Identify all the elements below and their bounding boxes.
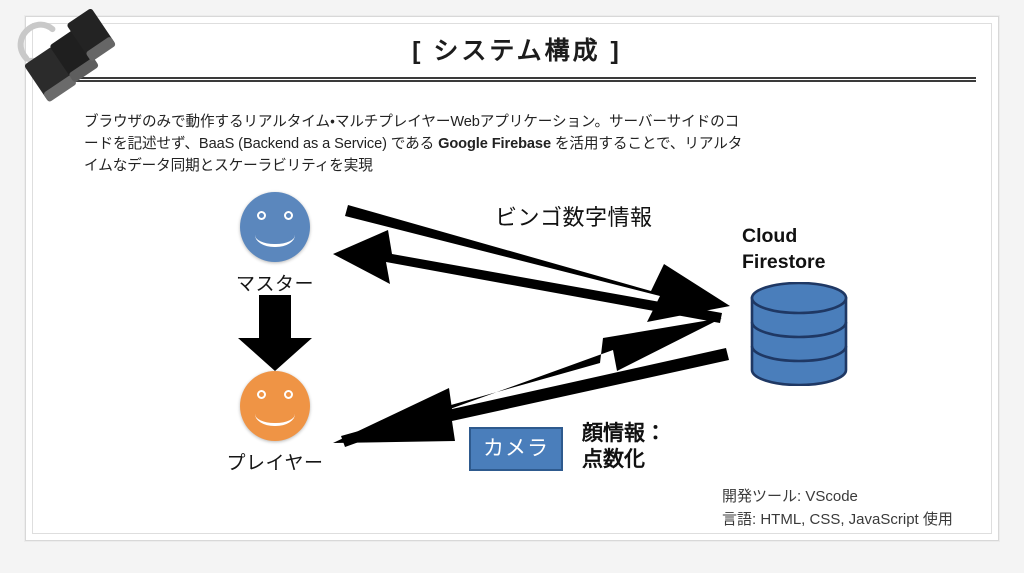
node-player[interactable]: プレイヤー (190, 371, 360, 475)
title-block: [ システム構成 ] (58, 38, 976, 82)
smiley-face-icon (240, 192, 310, 262)
database-cylinder-icon[interactable] (748, 282, 850, 386)
intro-line-1: ブラウザのみで動作するリアルタイム・マルチプレイヤーWebアプリケーション。サー… (84, 114, 681, 130)
node-master[interactable]: マスター (190, 192, 360, 296)
firestore-label-line1: Cloud (742, 223, 902, 249)
node-firestore-label: Cloud Firestore (742, 223, 902, 276)
smiley-face-icon (240, 371, 310, 441)
mouth-icon (255, 401, 295, 426)
node-master-label: マスター (190, 269, 360, 296)
intro-line-3: を活用すること (551, 136, 656, 152)
face-info-line1: 顔情報： (582, 421, 666, 447)
flow-label-bingo: ビンゴ数字情報 (495, 200, 653, 232)
face-info-line2: 点数化 (582, 447, 666, 473)
flow-label-face-info: 顔情報： 点数化 (582, 421, 666, 473)
mouth-icon (255, 222, 295, 247)
camera-node[interactable]: カメラ (469, 427, 563, 471)
page-title: [ システム構成 ] (58, 38, 976, 66)
footer-language: 言語: HTML, CSS, JavaScript 使用 (722, 508, 953, 531)
intro-bold-term: Google Firebase (438, 136, 551, 152)
intro-paragraph: ブラウザのみで動作するリアルタイム・マルチプレイヤーWebアプリケーション。サー… (84, 111, 744, 178)
firestore-label-line2: Firestore (742, 249, 902, 275)
title-double-rule (58, 77, 976, 82)
eye-right-icon (284, 211, 293, 220)
footer-dev-tool: 開発ツール: VScode (722, 485, 953, 508)
eye-left-icon (257, 390, 266, 399)
node-player-label: プレイヤー (190, 448, 360, 475)
eye-right-icon (284, 390, 293, 399)
eye-left-icon (257, 211, 266, 220)
footer-block: 開発ツール: VScode 言語: HTML, CSS, JavaScript … (722, 485, 953, 532)
